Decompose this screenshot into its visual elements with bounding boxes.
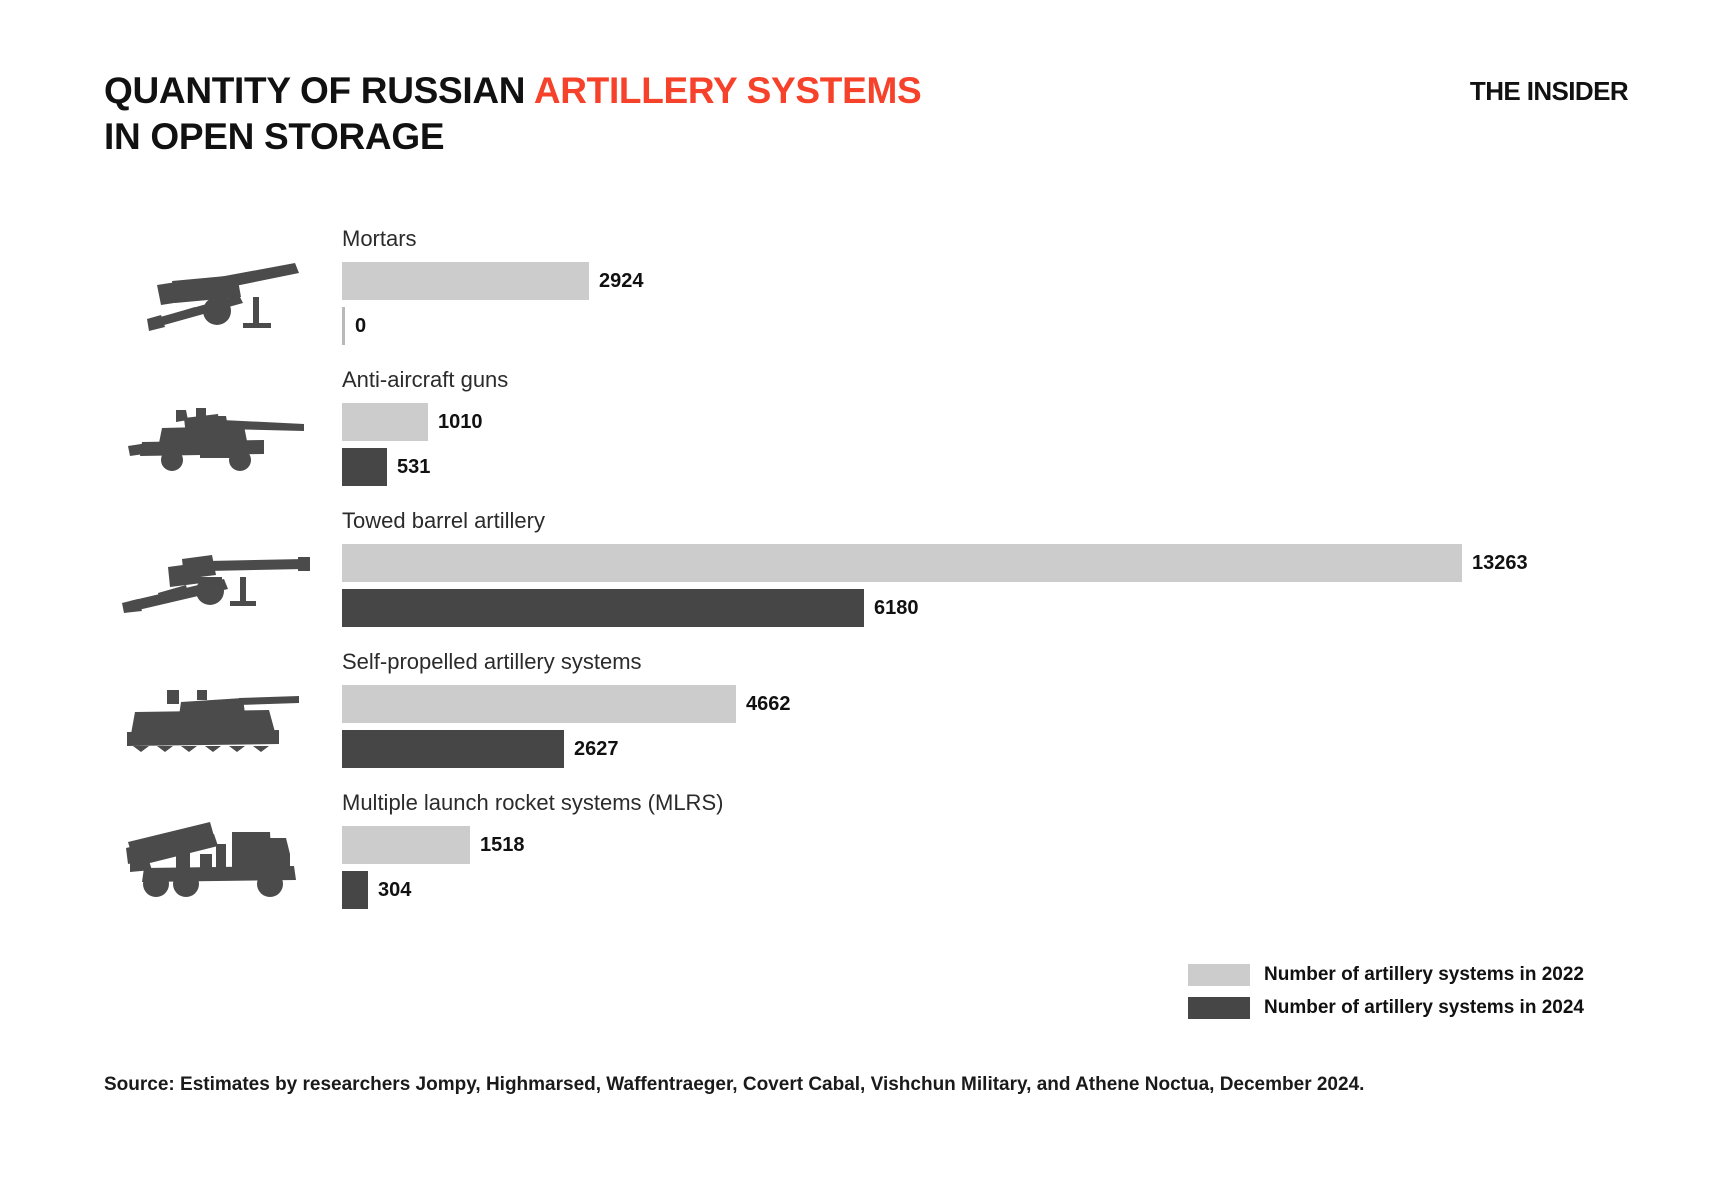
bar-row-2022: 4662 xyxy=(342,685,1634,723)
bar-2024 xyxy=(342,730,564,768)
bar-2022 xyxy=(342,826,470,864)
source-note: Source: Estimates by researchers Jompy, … xyxy=(104,1074,1364,1096)
legend-label-2022: Number of artillery systems in 2022 xyxy=(1264,964,1584,986)
self-propelled-gun-icon xyxy=(104,651,319,781)
bar-2022 xyxy=(342,544,1462,582)
legend-label-2024: Number of artillery systems in 2024 xyxy=(1264,997,1584,1019)
title-accent-text: ARTILLERY SYSTEMS xyxy=(534,70,922,111)
chart-bars: Anti-aircraft guns 1010 531 xyxy=(342,369,1634,486)
bar-row-2022: 13263 xyxy=(342,544,1634,582)
chart-legend: Number of artillery systems in 2022 Numb… xyxy=(1188,962,1638,1021)
category-label: Anti-aircraft guns xyxy=(342,369,1634,391)
bar-value-2022: 1518 xyxy=(480,834,525,857)
bar-row-2024: 304 xyxy=(342,871,1634,909)
bar-row-2024: 0 xyxy=(342,307,1634,345)
legend-item-2022: Number of artillery systems in 2022 xyxy=(1188,962,1638,988)
chart-group: Self-propelled artillery systems 4662 26… xyxy=(104,651,1634,792)
bar-2022 xyxy=(342,685,736,723)
page-title: QUANTITY OF RUSSIAN ARTILLERY SYSTEMS IN… xyxy=(104,68,1204,160)
bar-value-2022: 4662 xyxy=(746,693,791,716)
bar-value-2024: 2627 xyxy=(574,738,619,761)
bar-2024 xyxy=(342,589,864,627)
chart-group: Anti-aircraft guns 1010 531 xyxy=(104,369,1634,510)
chart-bars: Self-propelled artillery systems 4662 26… xyxy=(342,651,1634,768)
bar-row-2024: 531 xyxy=(342,448,1634,486)
chart-group: Mortars 2924 0 xyxy=(104,228,1634,369)
bar-row-2022: 1518 xyxy=(342,826,1634,864)
title-line-two: IN OPEN STORAGE xyxy=(104,116,444,157)
bar-row-2024: 2627 xyxy=(342,730,1634,768)
header: QUANTITY OF RUSSIAN ARTILLERY SYSTEMS IN… xyxy=(104,68,1628,178)
anti-aircraft-gun-icon xyxy=(104,369,319,499)
chart-group: Multiple launch rocket systems (MLRS) 15… xyxy=(104,792,1634,933)
bar-chart: Mortars 2924 0 xyxy=(104,228,1634,933)
bar-value-2024: 304 xyxy=(378,879,411,902)
bar-value-2022: 13263 xyxy=(1472,552,1528,575)
brand-logo: THE INSIDER xyxy=(1470,76,1628,107)
bar-row-2022: 1010 xyxy=(342,403,1634,441)
category-label: Mortars xyxy=(342,228,1634,250)
bar-2022 xyxy=(342,403,428,441)
title-plain-text: QUANTITY OF RUSSIAN xyxy=(104,70,534,111)
category-label: Multiple launch rocket systems (MLRS) xyxy=(342,792,1634,814)
infographic-canvas: QUANTITY OF RUSSIAN ARTILLERY SYSTEMS IN… xyxy=(0,0,1732,1191)
legend-swatch-2024 xyxy=(1188,997,1250,1019)
bar-row-2022: 2924 xyxy=(342,262,1634,300)
chart-bars: Mortars 2924 0 xyxy=(342,228,1634,345)
bar-value-2024: 531 xyxy=(397,456,430,479)
bar-2022 xyxy=(342,262,589,300)
bar-value-2024: 6180 xyxy=(874,597,919,620)
category-label: Towed barrel artillery xyxy=(342,510,1634,532)
category-label: Self-propelled artillery systems xyxy=(342,651,1634,673)
chart-bars: Towed barrel artillery 13263 6180 xyxy=(342,510,1634,627)
bar-2024 xyxy=(342,307,345,345)
chart-bars: Multiple launch rocket systems (MLRS) 15… xyxy=(342,792,1634,909)
bar-value-2024: 0 xyxy=(355,315,366,338)
mortar-icon xyxy=(104,228,319,358)
bar-2024 xyxy=(342,448,387,486)
bar-row-2024: 6180 xyxy=(342,589,1634,627)
mlrs-truck-icon xyxy=(104,792,319,922)
legend-swatch-2022 xyxy=(1188,964,1250,986)
chart-group: Towed barrel artillery 13263 6180 xyxy=(104,510,1634,651)
towed-howitzer-icon xyxy=(104,510,319,640)
bar-value-2022: 2924 xyxy=(599,270,644,293)
bar-2024 xyxy=(342,871,368,909)
bar-value-2022: 1010 xyxy=(438,411,483,434)
legend-item-2024: Number of artillery systems in 2024 xyxy=(1188,995,1638,1021)
